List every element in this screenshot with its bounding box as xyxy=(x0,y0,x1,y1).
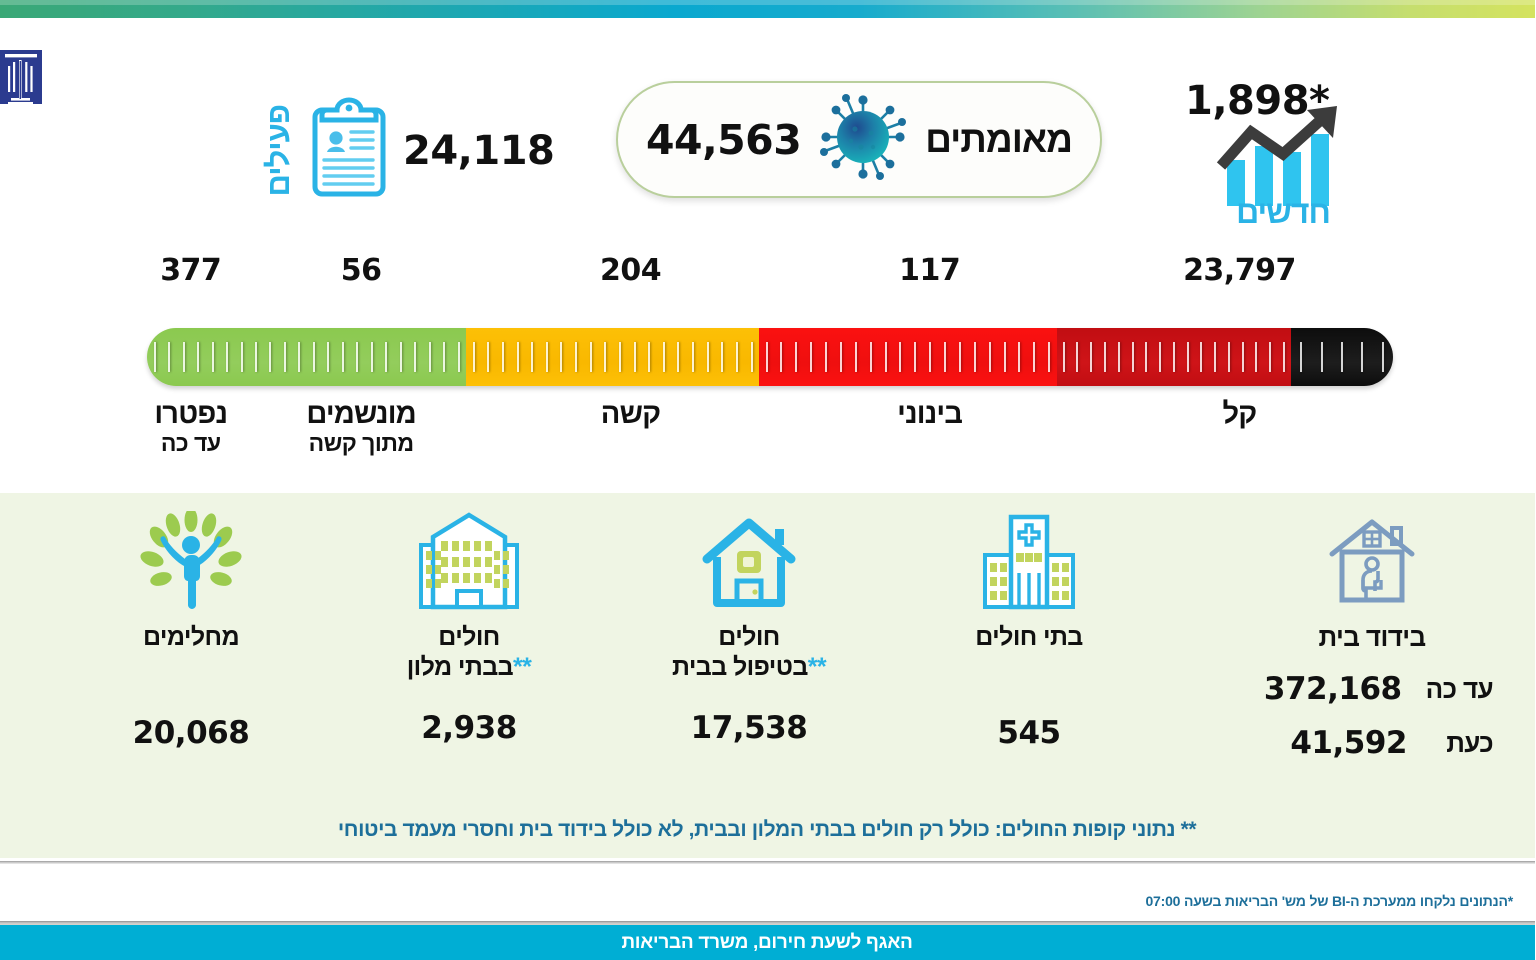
panel-label-hotels: חולים **בבתי מלון xyxy=(370,623,570,682)
source-footnote: *הנתונים נלקחו ממערכת ה-BI של מש' הבריאו… xyxy=(1146,893,1514,909)
panel-cell-hotels: חולים **בבתי מלון 2,938 xyxy=(370,507,570,746)
home-isolation-so-far-value: 372,168 xyxy=(1265,671,1403,707)
new-cases-label: חדשים xyxy=(1214,194,1354,231)
severity-label-severe: קשה xyxy=(532,398,732,430)
hospital-building-icon xyxy=(930,507,1130,611)
severity-label-moderate: בינוני xyxy=(831,398,1031,430)
panel-value-hospitals: 545 xyxy=(930,715,1130,751)
severity-label-ventilated-line1: מונשמים xyxy=(262,398,462,430)
severity-segment-severe xyxy=(760,328,1058,386)
home-isolation-title: בידוד בית xyxy=(1238,622,1508,653)
severity-segment-deceased xyxy=(1292,328,1394,386)
severity-value-mild: 23,797 xyxy=(1170,253,1310,288)
severity-value-severe: 204 xyxy=(562,253,702,288)
home-isolation-row-so-far: עד כה 372,168 xyxy=(1238,671,1508,707)
house-care-icon xyxy=(650,507,850,611)
severity-value-moderate: 117 xyxy=(861,253,1001,288)
home-care-asterisks: ** xyxy=(809,653,827,681)
panel-cell-home-isolation: בידוד בית עד כה 372,168 כעת 41,592 xyxy=(1238,508,1508,761)
home-isolation-now-value: 41,592 xyxy=(1291,725,1408,761)
severity-label-severe-line1: קשה xyxy=(532,398,732,430)
footer-bar: האגף לשעת חירום, משרד הבריאות xyxy=(0,925,1536,960)
severity-label-ventilated-line2: מתוך קשה xyxy=(262,430,462,458)
severity-value-ventilated: 56 xyxy=(292,253,432,288)
top-gradient-bar xyxy=(0,0,1536,18)
home-isolation-so-far-label: עד כה xyxy=(1427,674,1494,705)
home-isolation-now-label: כעת xyxy=(1432,728,1494,759)
panel-cell-hospitals: בתי חולים 545 xyxy=(930,507,1130,751)
person-leaves-recovered-icon xyxy=(92,507,292,611)
israel-state-emblem-menorah-icon xyxy=(0,48,44,111)
panel-value-home-care: 17,538 xyxy=(650,710,850,746)
header-region: משרד הבריאות לחיים בריאים יותר 24,118 xyxy=(0,18,1536,236)
severity-segment-ventilated xyxy=(1058,328,1292,386)
new-cases-stat: *1,898 חדשים xyxy=(1172,66,1372,242)
severity-label-ventilated: מונשמיםמתוך קשה xyxy=(262,398,462,458)
hmo-footnote: ** נתוני קופות החולים: כולל רק חולים בבת… xyxy=(0,818,1536,842)
severity-label-mild: קל xyxy=(1140,398,1340,430)
active-cases-stat: 24,118 xyxy=(262,96,555,205)
confirmed-cases-label: מאומתים xyxy=(926,119,1073,161)
severity-ticks-severe xyxy=(760,342,1058,372)
panel-label-hospitals: בתי חולים xyxy=(930,623,1130,653)
severity-label-moderate-line1: בינוני xyxy=(831,398,1031,430)
severity-scale-bar xyxy=(148,328,1394,386)
panel-label-recovered: מחלימים xyxy=(92,623,292,653)
panel-value-hotels: 2,938 xyxy=(370,710,570,746)
coronavirus-icon xyxy=(818,91,910,188)
ministry-of-health-logo: משרד הבריאות לחיים בריאים יותר xyxy=(34,46,44,113)
severity-value-deceased: 377 xyxy=(122,253,262,288)
severity-ticks-mild xyxy=(148,342,467,372)
active-cases-value: 24,118 xyxy=(404,128,555,174)
panel-value-recovered: 20,068 xyxy=(92,715,292,751)
divider-upper xyxy=(0,861,1536,864)
hotel-building-icon xyxy=(370,507,570,611)
covid-dashboard-infographic: משרד הבריאות לחיים בריאים יותר 24,118 xyxy=(0,0,1536,960)
active-cases-label: פעילים xyxy=(262,105,298,197)
footer-text: האגף לשעת חירום, משרד הבריאות xyxy=(622,932,913,954)
breakdown-panel: מחלימים 20,068 xyxy=(0,493,1536,858)
severity-segment-moderate xyxy=(467,328,760,386)
severity-ticks-deceased xyxy=(1292,342,1394,372)
top-bar-highlight xyxy=(0,0,1536,5)
severity-ticks-moderate xyxy=(467,342,760,372)
severity-segment-mild xyxy=(148,328,467,386)
house-person-isolation-icon xyxy=(1238,508,1508,608)
severity-ticks-ventilated xyxy=(1058,342,1292,372)
clipboard-person-icon xyxy=(308,96,394,205)
panel-cell-home-care: חולים **בטיפול בבית 17,538 xyxy=(650,507,850,746)
confirmed-cases-card: מאומתים xyxy=(617,81,1103,198)
severity-values-row: 3775620411723,797 xyxy=(140,253,1402,299)
severity-labels-row: נפטרועד כהמונשמיםמתוך קשהקשהבינוניקל xyxy=(140,398,1402,478)
confirmed-cases-value: 44,563 xyxy=(647,116,802,164)
panel-cell-recovered: מחלימים 20,068 xyxy=(92,507,292,751)
severity-label-mild-line1: קל xyxy=(1140,398,1340,430)
home-isolation-row-now: כעת 41,592 xyxy=(1238,725,1508,761)
panel-label-home-care: חולים **בטיפול בבית xyxy=(650,623,850,682)
hotels-asterisks: ** xyxy=(514,653,532,681)
